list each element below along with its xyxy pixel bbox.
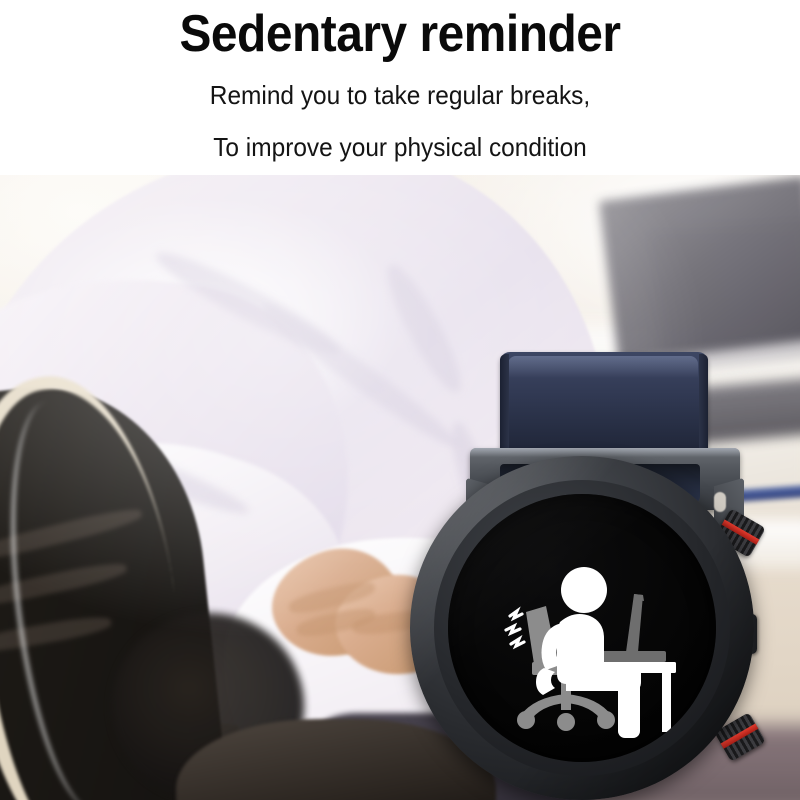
background-monitor bbox=[599, 175, 800, 362]
watch-strap-edge-left bbox=[500, 354, 509, 454]
back-pain-zigzag-icon bbox=[506, 611, 524, 646]
page-title: Sedentary reminder bbox=[32, 0, 768, 60]
watch-strap-highlight bbox=[508, 356, 698, 378]
sedentary-reminder-icon-svg bbox=[448, 494, 716, 762]
header-text-block: Sedentary reminder Remind you to take re… bbox=[0, 0, 800, 175]
subtitle-line-1: Remind you to take regular breaks, bbox=[24, 60, 776, 108]
crown-red-stripe bbox=[721, 724, 759, 749]
watch-screen[interactable] bbox=[448, 494, 716, 762]
watch-strap-edge-right bbox=[699, 354, 708, 454]
smartwatch bbox=[408, 352, 800, 800]
product-banner: Sedentary reminder Remind you to take re… bbox=[0, 0, 800, 800]
watch-lug-highlight bbox=[470, 448, 740, 457]
subtitle-line-2: To improve your physical condition bbox=[24, 108, 776, 160]
sedentary-reminder-icon bbox=[448, 494, 716, 762]
